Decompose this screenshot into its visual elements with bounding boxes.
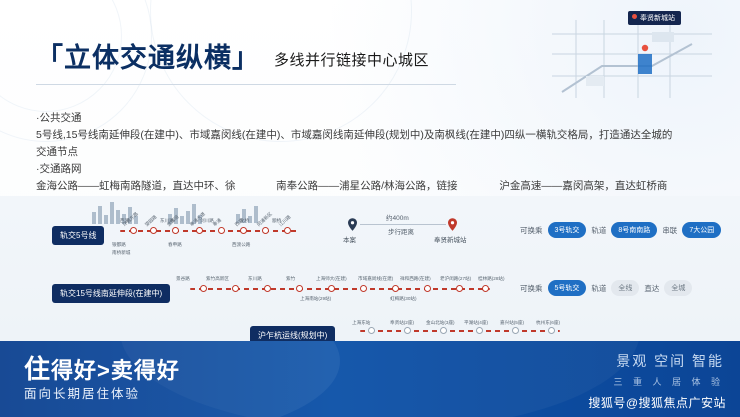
station-label: 上海南站(29站)	[300, 296, 331, 302]
slide-page: 「立体交通纵横」 多线并行链接中心城区 ·公共交通 5号线,15号线南延伸段(在…	[0, 0, 740, 417]
title-block: 「立体交通纵横」 多线并行链接中心城区	[36, 45, 429, 72]
station-label: 奉贤站(2座)	[390, 320, 414, 326]
road-network-heading: ·交通路网	[36, 161, 676, 178]
banner-slogan-c: >	[97, 358, 111, 383]
walk-distance-block: 本案 奉贤新城站 约400m 步行距离	[330, 210, 490, 254]
station-label: 春申路	[168, 242, 182, 248]
station-dot	[264, 285, 271, 292]
distance-note: 步行距离	[388, 226, 414, 236]
station-label: 颛桥	[272, 218, 281, 224]
station-dot	[150, 227, 157, 234]
station-label: 景谷路	[176, 276, 190, 282]
map-pin-dot	[632, 14, 637, 19]
station-dot	[392, 285, 399, 292]
station-dot	[240, 227, 247, 234]
station-label: 紫竹	[286, 276, 295, 282]
transfer-key: 轨道	[591, 283, 606, 294]
bottom-banner: 住得好>卖得好 面向长期居住体验 景观 空间 智能 三 重 人 居 体 验 搜狐…	[0, 341, 740, 417]
map-station-label: 奉贤新城站	[628, 11, 681, 25]
transfer-group-metro5: 可换乘 3号轨交 轨道 8号南南路 串联 7大公园	[520, 222, 721, 238]
banner-right-text: 景观 空间 智能 三 重 人 居 体 验	[613, 351, 724, 388]
origin-label: 本案	[343, 234, 356, 244]
transfer-key: 轨道	[591, 225, 606, 236]
transfer-chip[interactable]: 5号轨交	[548, 280, 587, 296]
station-label: 南桥新城	[112, 250, 130, 256]
banner-slogan-a: 住	[24, 354, 51, 384]
public-transit-heading: ·公共交通	[36, 110, 676, 127]
distance-connector	[360, 224, 446, 225]
station-dot	[262, 227, 269, 234]
station-label: 上海东站	[352, 320, 370, 326]
page-subtitle: 多线并行链接中心城区	[274, 49, 429, 72]
station-label: 紫竹高新区	[206, 276, 229, 282]
station-dot	[232, 285, 239, 292]
station-label: 剑川路	[200, 218, 214, 224]
station-label: 杭州东(6座)	[536, 320, 560, 326]
station-label: 上海师大(在建)	[316, 276, 347, 282]
transfer-chip[interactable]: 全线	[611, 280, 639, 296]
banner-slogan-b: 得好	[51, 358, 97, 383]
title-divider	[36, 84, 456, 85]
station-label: 北桥	[240, 218, 249, 224]
station-dot	[456, 285, 463, 292]
station-label: 老沪闵路(27站)	[440, 276, 471, 282]
station-label: 望园路	[144, 214, 158, 228]
watermark-credit: 搜狐号@搜狐焦点广安站	[588, 394, 726, 411]
distance-value: 约400m	[386, 212, 409, 222]
origin-pin-icon	[348, 218, 357, 231]
station-dot	[360, 285, 367, 292]
station-label: 银都路	[112, 242, 126, 248]
station-dot	[440, 327, 447, 334]
station-dot	[200, 285, 207, 292]
station-dot	[482, 285, 489, 292]
station-dot	[404, 327, 411, 334]
station-label: 虹梅路(30站)	[390, 296, 417, 302]
public-transit-detail: 5号线,15号线南延伸段(在建中)、市域嘉闵线(在建中)、市域嘉闵线南延伸段(规…	[36, 127, 676, 161]
transfer-key: 可换乘	[520, 225, 543, 236]
line-badge-metro5: 轨交5号线	[52, 226, 104, 245]
station-dot	[512, 327, 519, 334]
banner-right-line1: 景观 空间 智能	[613, 351, 724, 371]
page-title: 「立体交通纵横」	[36, 45, 260, 72]
station-label: 平湖站(4座)	[464, 320, 488, 326]
station-dot	[196, 227, 203, 234]
destination-pin-icon	[448, 218, 457, 231]
station-dot	[368, 327, 375, 334]
transfer-key: 串联	[662, 225, 677, 236]
station-label: 祥和西路(在建)	[400, 276, 431, 282]
destination-label: 奉贤新城站	[434, 234, 467, 244]
station-label: 桂林路(28站)	[478, 276, 505, 282]
map-station-name: 奉贤新城站	[640, 15, 675, 22]
transfer-key: 直达	[644, 283, 659, 294]
transfer-chip[interactable]: 7大公园	[682, 222, 721, 238]
rail-huzhahang	[360, 330, 560, 332]
station-label: 嘉兴站(5座)	[500, 320, 524, 326]
location-map: 奉贤新城站	[542, 14, 722, 102]
transfer-chip[interactable]: 3号轨交	[548, 222, 587, 238]
station-label: 西渡公路	[232, 242, 250, 248]
station-dot	[218, 227, 225, 234]
transfer-key: 可换乘	[520, 283, 543, 294]
station-dot	[130, 227, 137, 234]
station-label: 东川路	[160, 218, 174, 224]
station-label: 金山北站(3座)	[426, 320, 455, 326]
transfer-chip[interactable]: 全城	[664, 280, 692, 296]
station-dot	[548, 327, 555, 334]
banner-right-line2: 三 重 人 居 体 验	[613, 375, 724, 388]
transfer-group-metro15: 可换乘 5号轨交 轨道 全线 直达 全城	[520, 280, 692, 296]
station-dot	[476, 327, 483, 334]
station-dot	[328, 285, 335, 292]
station-dot	[296, 285, 303, 292]
station-dot	[284, 227, 291, 234]
map-graphic	[542, 14, 722, 102]
transit-diagram: 轨交5号线 环城东路 望园路 金海湖 奉浦大道 奉浦 西渡 闵浦新区 江川路 西…	[0, 196, 740, 341]
transfer-chip[interactable]: 8号南南路	[611, 222, 657, 238]
station-dot	[172, 227, 179, 234]
station-label: 东川路	[248, 276, 262, 282]
rail-metro5	[120, 230, 300, 232]
banner-slogan-main: 住得好>卖得好	[24, 349, 180, 386]
banner-slogan-sub: 面向长期居住体验	[24, 383, 140, 402]
station-label: 市域嘉闵线(在建)	[358, 276, 393, 282]
banner-slogan-d: 卖得好	[111, 358, 180, 383]
station-label: 西渡	[120, 218, 129, 224]
station-dot	[424, 285, 431, 292]
station-label: 闵浦新区	[256, 211, 274, 228]
line-badge-metro15: 轨交15号线南延伸段(在建中)	[52, 284, 170, 303]
